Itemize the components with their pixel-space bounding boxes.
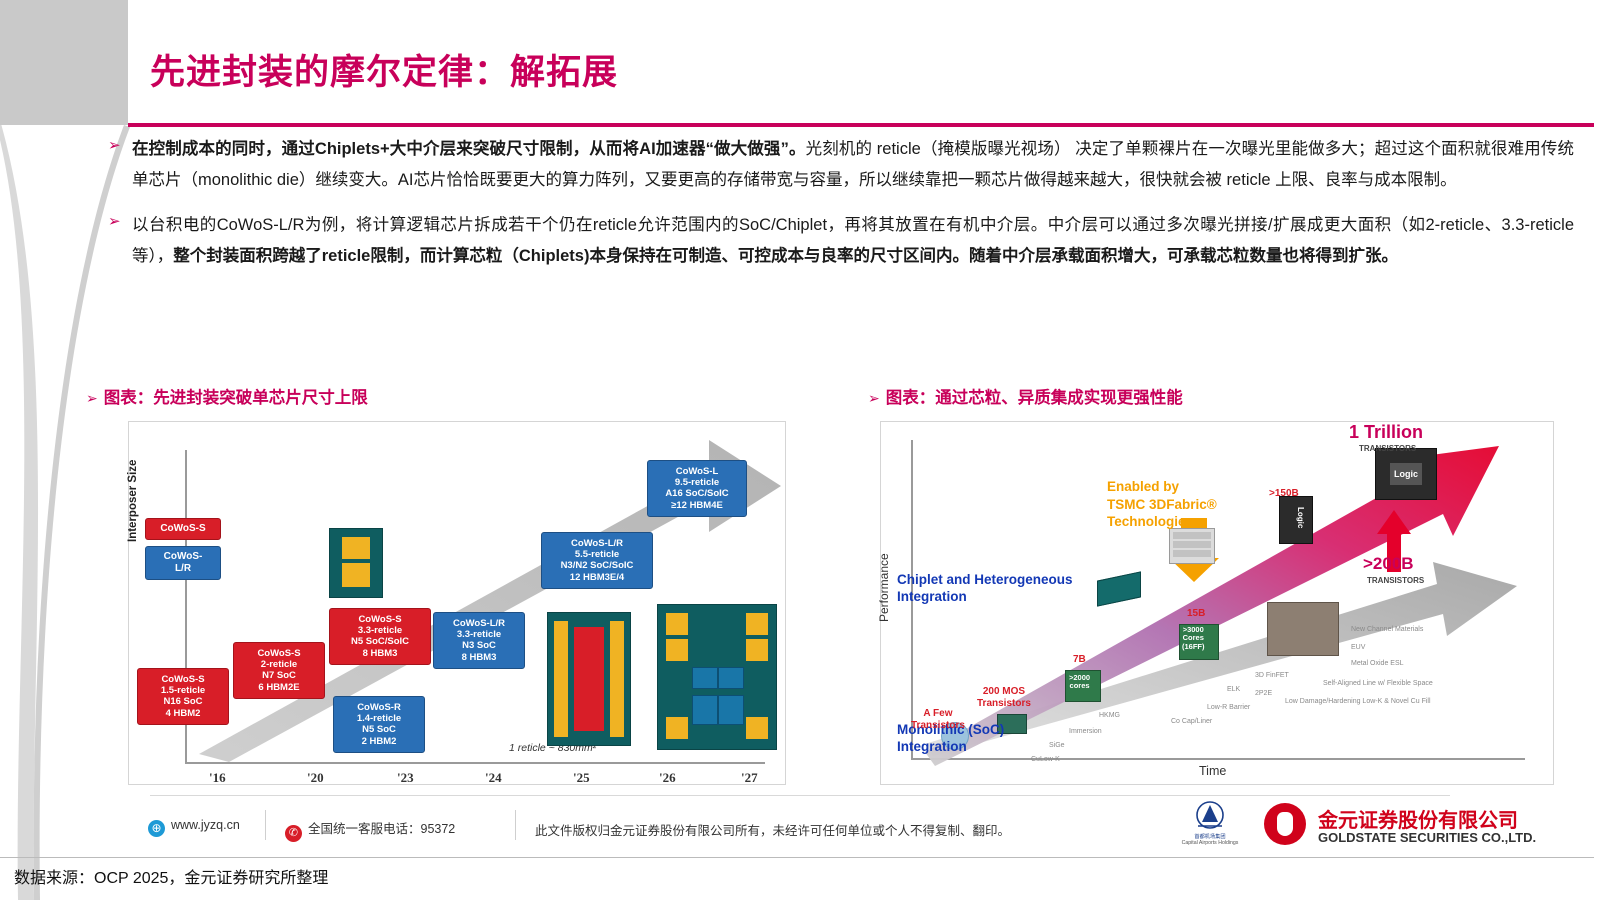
goldstate-brand-en: GOLDSTATE SECURITIES CO.,LTD. [1318,830,1536,845]
box-cowos-lr-2025: CoWoS-L/R 5.5-reticle N3/N2 SoC/SoIC 12 … [541,532,653,589]
slide-root: 先进封装的摩尔定律：解拓展 ➢ 在控制成本的同时，通过Chiplets+大中介层… [0,0,1600,900]
figure-right-caption-text: 图表：通过芯粒、异质集成实现更强性能 [886,389,1183,407]
body-bullets: ➢ 在控制成本的同时，通过Chiplets+大中介层来突破尺寸限制，从而将AI加… [104,134,1574,286]
xtick-0: '16 [209,770,226,786]
annotation-200-mos: 200 MOS Transistors [977,686,1031,709]
bullet-1-bold: 在控制成本的同时，通过Chiplets+大中介层来突破尺寸限制，从而将AI加速器… [132,140,806,158]
logic-die-top: Logic [1375,448,1437,500]
box-line: CoWoS-S [332,614,428,625]
node-label-12: SiGe [1049,742,1065,749]
bullet-2-text: 以台积电的CoWoS-L/R为例，将计算逻辑芯片拆成若干个仍在reticle允许… [132,210,1574,272]
package-2025 [547,612,631,746]
box-cowos-s-2020: CoWoS-S 2-reticle N7 SoC 6 HBM2E [233,642,325,699]
annotation-2000-cores: >2000 cores [1069,674,1090,691]
figure-right-caption: ➢图表：通过芯粒、异质集成实现更强性能 [868,384,1183,408]
box-line: CoWoS-S [140,674,226,685]
node-label-0: New Channel Materials [1351,626,1423,633]
box-line: CoWoS- [148,551,218,563]
box-line: ≥12 HBM4E [650,500,744,511]
xtick-4: '25 [573,770,590,786]
box-line: CoWoS-L/R [544,538,650,549]
box-line: 4 HBM2 [140,708,226,719]
box-line: N7 SoC [236,670,322,681]
box-line: 12 HBM3E/4 [544,572,650,583]
box-cowos-s-2016: CoWoS-S 1.5-reticle N16 SoC 4 HBM2 [137,668,229,725]
box-line: 3.3-reticle [332,625,428,636]
box-cowos-s-top: CoWoS-S [145,518,221,540]
node-label-5: 3D FinFET [1255,672,1289,679]
node-label-8: Low-R Barrier [1207,704,1250,711]
logic-die-mid: Logic [1279,496,1313,544]
package-2027 [657,604,777,750]
caption-arrow-icon: ➢ [868,390,880,406]
box-line: 1.4-reticle [336,713,422,724]
box-line: CoWoS-R [336,702,422,713]
box-line: 2 HBM2 [336,736,422,747]
box-cowos-r-2023: CoWoS-R 1.4-reticle N5 SoC 2 HBM2 [333,696,425,753]
box-line: CoWoS-S [236,648,322,659]
box-line: 2-reticle [236,659,322,670]
xtick-1: '20 [307,770,324,786]
footer-hotline-text: 全国统一客服电话：95372 [308,822,455,836]
node-label-10: HKMG [1099,712,1120,719]
capital-airports-en: Capital Airports Holdings [1172,840,1248,846]
figure-left-caption: ➢图表：先进封装突破单芯片尺寸上限 [86,384,368,408]
xtick-3: '24 [485,770,502,786]
box-line: L/R [148,563,218,575]
bullet-1-text: 在控制成本的同时，通过Chiplets+大中介层来突破尺寸限制，从而将AI加速器… [132,134,1574,196]
node-label-3: Self-Aligned Line w/ Flexible Space [1323,680,1433,687]
bullet-arrow-icon: ➢ [108,137,121,155]
goldstate-logo-mark [1264,803,1306,845]
box-cowos-l-2027: CoWoS-L 9.5-reticle A16 SoC/SoIC ≥12 HBM… [647,460,747,517]
footer-copyright: 此文件版权归金元证券股份有限公司所有，未经许可任何单位或个人不得复制、翻印。 [535,820,1010,839]
annotation-200b-sub: TRANSISTORS [1367,576,1424,585]
xtick-2: '23 [397,770,414,786]
node-label-13: CuLow-K [1031,756,1060,763]
right-edge-strip [1594,0,1600,900]
source-divider [0,857,1600,858]
box-line: CoWoS-L [650,466,744,477]
box-line: N3/N2 SoC/SoIC [544,560,650,571]
node-label-2: Metal Oxide ESL [1351,660,1404,667]
bullet-arrow-icon: ➢ [108,213,121,231]
page-title: 先进封装的摩尔定律：解拓展 [150,44,618,95]
source-text: 数据来源：OCP 2025，金元证券研究所整理 [14,864,328,888]
caption-arrow-icon: ➢ [86,390,98,406]
hbm-stack-module [1169,528,1215,564]
annotation-7b: 7B [1073,654,1086,666]
footer-hotline: ✆全国统一客服电话：95372 [285,818,455,842]
xtick-6: '27 [741,770,758,786]
box-line: 9.5-reticle [650,477,744,488]
die-200b-photo [1267,602,1339,656]
box-line: A16 SoC/SoIC [650,488,744,499]
node-label-9: Co Cap/Liner [1171,718,1212,725]
box-line: CoWoS-L/R [436,618,522,629]
annotation-enabled-by: Enabled by TSMC 3DFabric® Technologies [1107,478,1217,531]
figure-left-caption-text: 图表：先进封装突破单芯片尺寸上限 [104,389,368,407]
slide-header: 先进封装的摩尔定律：解拓展 [128,0,1600,123]
box-line: 8 HBM3 [436,652,522,663]
footer-separator-1 [265,810,266,840]
bullet-2-bold: 整个封装面积跨越了reticle限制，而计算芯粒（Chiplets)本身保持在可… [173,247,1398,265]
annotation-200b: >200B [1363,554,1414,574]
annotation-a-few-transistors: A Few Transistors [911,708,965,731]
footer-website-text: www.jyzq.cn [171,818,240,832]
bullet-2: ➢ 以台积电的CoWoS-L/R为例，将计算逻辑芯片拆成若干个仍在reticle… [104,210,1574,272]
package-2023-small [329,528,383,598]
node-label-1: EUV [1351,644,1365,651]
globe-icon: ⊕ [148,820,165,837]
box-line: N16 SoC [140,696,226,707]
annotation-3000-cores: >3000 Cores (16FF) [1182,626,1205,651]
footer-divider [150,795,1450,796]
node-label-11: Immersion [1069,728,1102,735]
box-line: N5 SoC/SoIC [332,636,428,647]
capital-airports-cn: 首都机场集团 [1176,833,1244,840]
node-label-7: ELK [1227,686,1240,693]
box-line: N5 SoC [336,724,422,735]
box-line: 5.5-reticle [544,549,650,560]
left-chart-y-axis-label: Interposer Size [127,460,139,542]
box-cowos-lr-top: CoWoS- L/R [145,546,221,580]
goldstate-brand-cn: 金元证券股份有限公司 [1318,804,1518,833]
box-line: 3.3-reticle [436,629,522,640]
box-line: 8 HBM3 [332,648,428,659]
annotation-150b: >150B [1269,488,1299,500]
box-line: 6 HBM2E [236,682,322,693]
box-line: N3 SoC [436,640,522,651]
header-divider [128,123,1600,127]
annotation-chiplet-heterogeneous: Chiplet and Heterogeneous Integration [897,572,1073,606]
footer-separator-2 [515,810,516,840]
node-label-6: 2P2E [1255,690,1272,697]
box-cowos-lr-2024: CoWoS-L/R 3.3-reticle N3 SoC 8 HBM3 [433,612,525,669]
phone-icon: ✆ [285,825,302,842]
box-line: 1.5-reticle [140,685,226,696]
xtick-5: '26 [659,770,676,786]
figure-left-interposer-chart: Interposer Size '16 '20 '23 '24 '25 '26 … [128,421,786,785]
node-label-4: Low Damage/Hardening Low-K & Novel Cu Fi… [1285,698,1431,705]
figure-right-performance-chart: Performance Time [880,421,1554,785]
box-cowos-s-2023: CoWoS-S 3.3-reticle N5 SoC/SoIC 8 HBM3 [329,608,431,665]
bullet-1: ➢ 在控制成本的同时，通过Chiplets+大中介层来突破尺寸限制，从而将AI加… [104,134,1574,196]
annotation-15b: 15B [1187,608,1205,620]
box-line: CoWoS-S [148,523,218,535]
annotation-1-trillion: 1 Trillion [1349,422,1423,443]
annotation-1-trillion-sub: TRANSISTORS [1359,444,1416,453]
footer-website: ⊕www.jyzq.cn [148,818,240,837]
